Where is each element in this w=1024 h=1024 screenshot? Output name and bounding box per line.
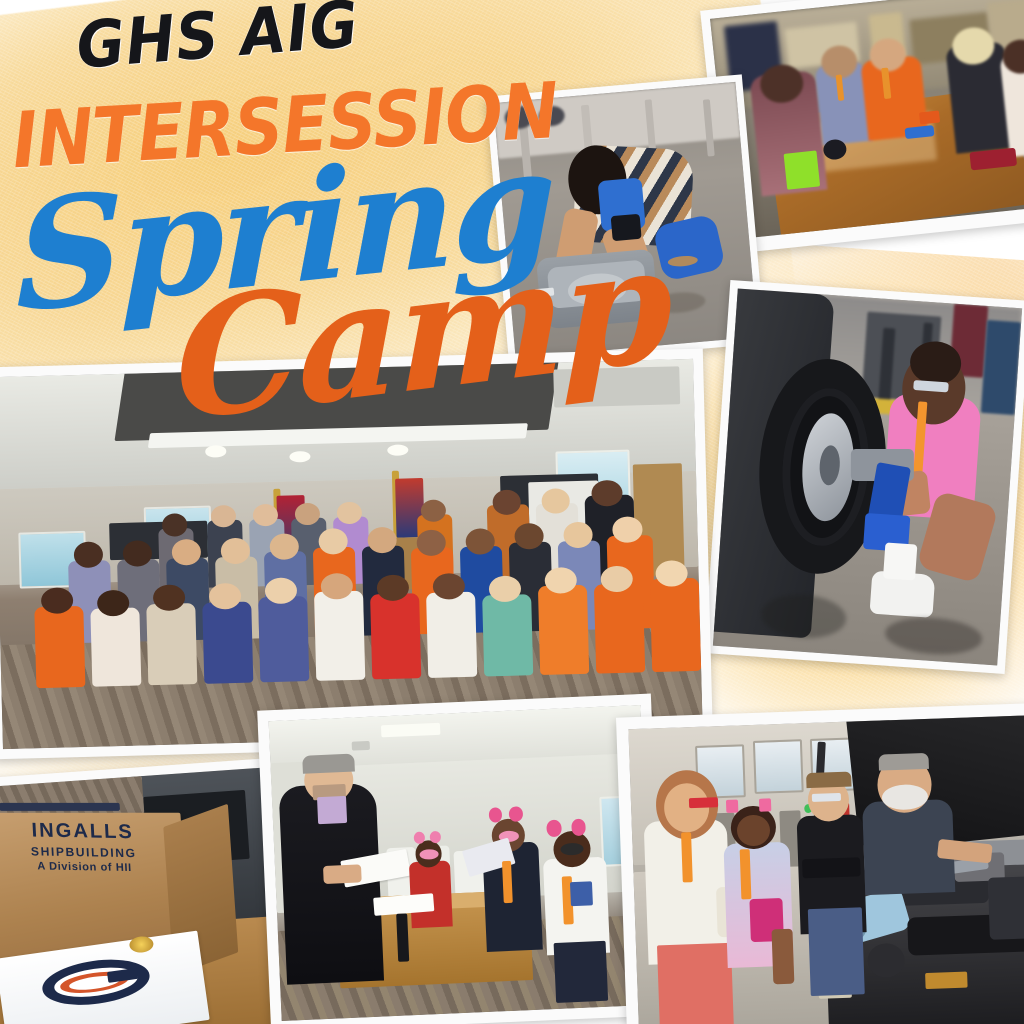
photo-mock-trial: A judge in a black robe reading papers w… [257,694,665,1024]
photo-ingalls-bag: INGALLS SHIPBUILDING A Division of HII G… [0,757,302,1024]
bag-line-shipbuilding: SHIPBUILDING [0,843,168,860]
photo-collage-poster: Students in a woodworking shop gathered … [0,0,1024,1024]
title-spring: Spring [16,114,552,347]
title-intersession: INTERSESSION [10,66,560,187]
photo-student-bucket: A student kneeling on a concrete floor w… [486,74,766,365]
bag-line-division: A Division of HII [0,859,169,875]
title-ghs-aig: GHS AIG [74,0,362,84]
photo-engine-bay: Students with safety glasses listening t… [616,702,1024,1024]
photo-tire-change: A girl in a pink shirt crouching beside … [704,280,1024,674]
ingalls-bag-wordmark: INGALLS SHIPBUILDING A Division of HII [0,819,169,876]
bag-line-ingalls: INGALLS [0,819,168,845]
